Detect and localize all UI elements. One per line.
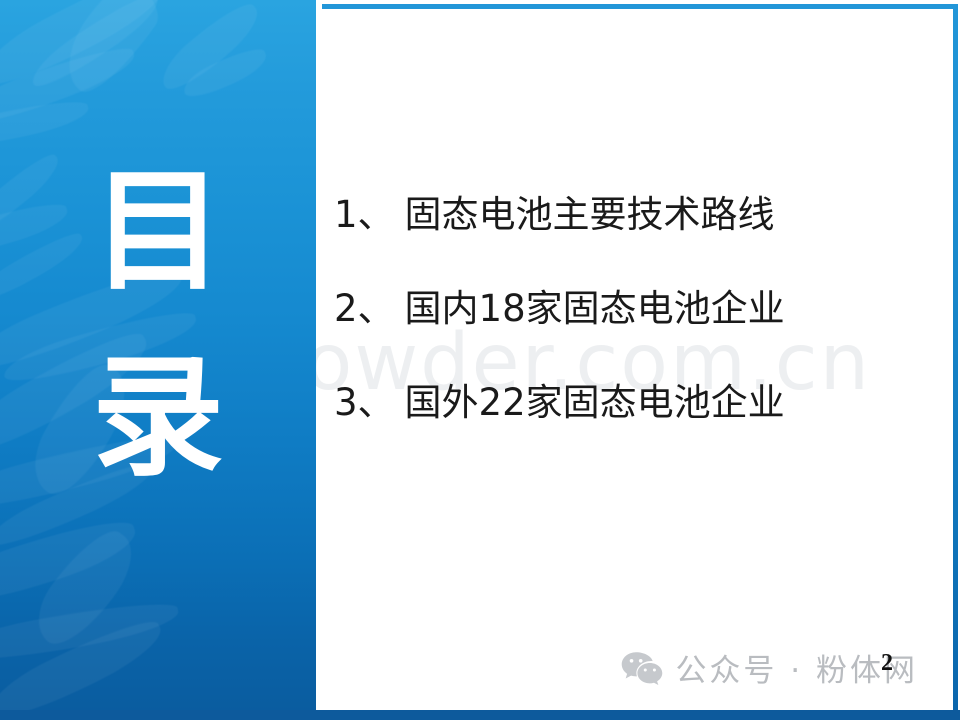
agenda-item-3-label: 国外22家固态电池企业 [405,384,785,421]
sidebar-title-char-mu: 目 [92,166,224,298]
page-number: 2 [881,650,893,677]
sidebar-title-char-lu: 录 [92,352,224,484]
agenda-item-3-number: 3、 [334,384,395,421]
agenda-item-2-label: 国内18家固态电池企业 [405,290,785,327]
slide-root: 目 录 © cnpowder.com.cn 1、 固态电池主要技术路线 2、 国… [0,0,960,720]
bottom-border-bar [0,710,960,720]
sidebar-title: 目 录 [0,0,316,714]
agenda-list: 1、 固态电池主要技术路线 2、 国内18家固态电池企业 3、 国外22家固态电… [334,196,940,478]
agenda-item-2-number: 2、 [334,290,395,327]
top-border-rule [322,4,953,9]
right-border-rule [953,4,958,712]
brand-lockup: 公众号 · 粉体网 [621,645,918,690]
agenda-item-3[interactable]: 3、 国外22家固态电池企业 [334,384,940,421]
agenda-item-1[interactable]: 1、 固态电池主要技术路线 [334,196,940,233]
agenda-item-1-label: 固态电池主要技术路线 [405,196,775,233]
agenda-item-2[interactable]: 2、 国内18家固态电池企业 [334,290,940,327]
agenda-item-1-number: 1、 [334,196,395,233]
content-panel: © cnpowder.com.cn 1、 固态电池主要技术路线 2、 国内18家… [316,0,960,714]
wechat-icon [621,651,663,685]
